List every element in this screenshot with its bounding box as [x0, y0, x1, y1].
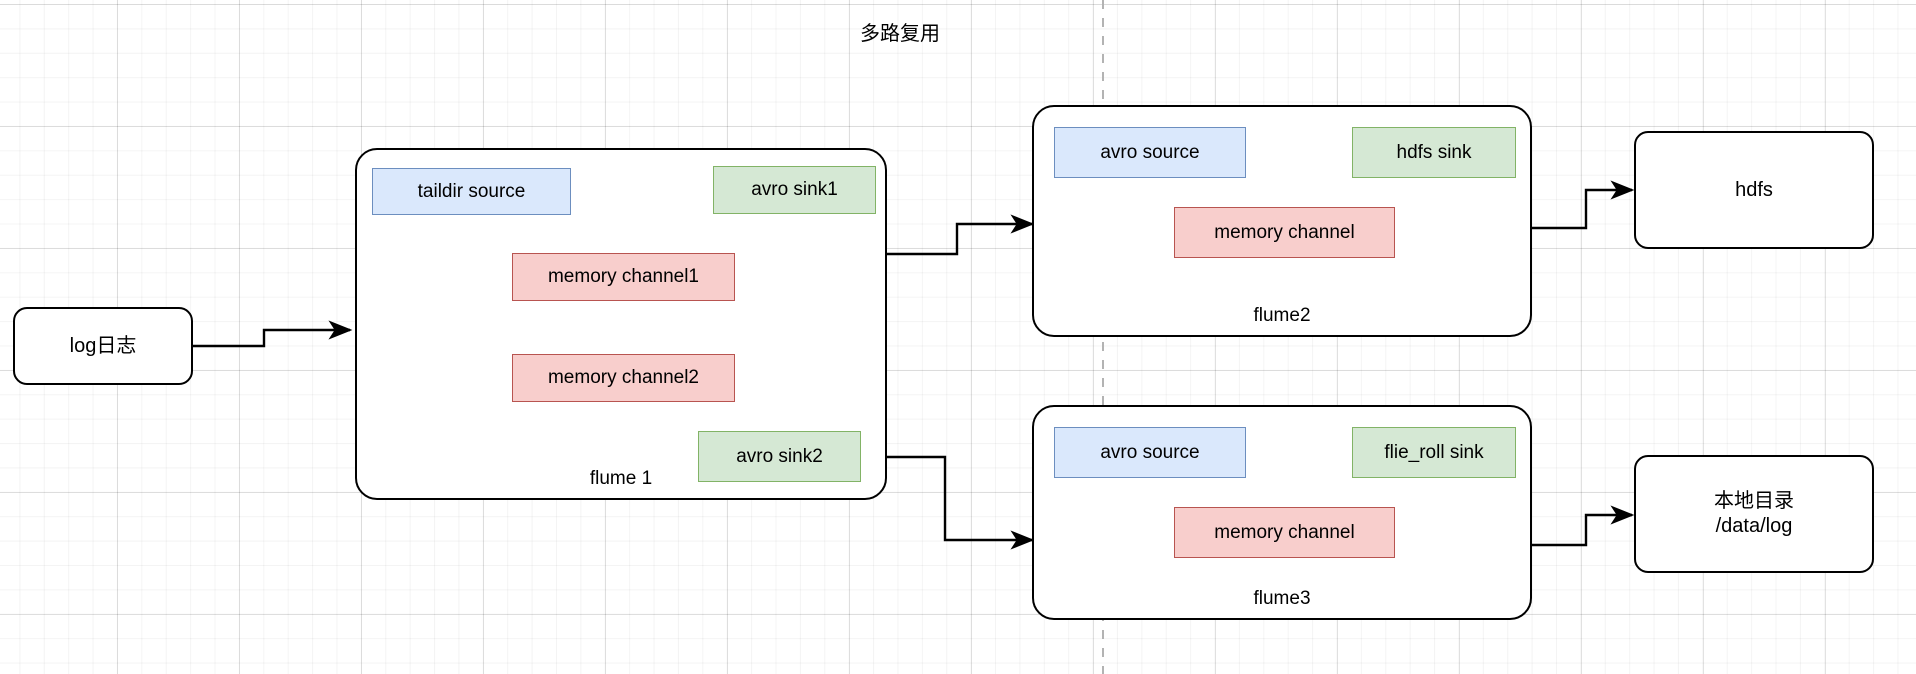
flume2-avro-source: avro source [1054, 127, 1246, 178]
flume3-flie-roll-sink: flie_roll sink [1352, 427, 1516, 478]
agent-flume2-label: flume2 [1253, 304, 1310, 328]
terminal-hdfs-label: hdfs [1735, 178, 1773, 203]
flume1-avro-sink2-label: avro sink2 [736, 445, 823, 469]
flume1-taildir-source: taildir source [372, 168, 571, 215]
flume2-hdfs-sink: hdfs sink [1352, 127, 1516, 178]
edge-flume2-to-hdfs [1531, 190, 1632, 228]
flume3-memory-channel: memory channel [1174, 507, 1395, 558]
flume3-flie-roll-sink-label: flie_roll sink [1384, 441, 1483, 465]
page-title: 多路复用 [860, 17, 940, 46]
terminal-log-source-label: log日志 [70, 334, 137, 359]
agent-flume1-label: flume 1 [590, 467, 652, 491]
flume1-memory-channel1: memory channel1 [512, 253, 735, 301]
agent-flume3-label: flume3 [1253, 587, 1310, 611]
flume3-avro-source: avro source [1054, 427, 1246, 478]
flume1-taildir-source-label: taildir source [418, 180, 526, 204]
flume2-hdfs-sink-label: hdfs sink [1397, 141, 1472, 165]
flume3-memory-channel-label: memory channel [1214, 521, 1354, 545]
terminal-log-source: log日志 [13, 307, 193, 385]
terminal-local-dir-label-line2: /data/log [1716, 514, 1793, 539]
flume1-avro-sink1: avro sink1 [713, 166, 876, 214]
terminal-hdfs: hdfs [1634, 131, 1874, 249]
flume1-memory-channel1-label: memory channel1 [548, 265, 699, 289]
connector-layer [0, 0, 1916, 674]
flume2-avro-source-label: avro source [1100, 141, 1199, 165]
flume1-avro-sink1-label: avro sink1 [751, 178, 838, 202]
flume2-memory-channel: memory channel [1174, 207, 1395, 258]
edge-flume3-to-localdir [1531, 515, 1632, 545]
edge-log-to-flume1 [193, 330, 350, 346]
terminal-local-dir: 本地目录 /data/log [1634, 455, 1874, 573]
flume2-memory-channel-label: memory channel [1214, 221, 1354, 245]
terminal-local-dir-label-line1: 本地目录 [1714, 489, 1794, 514]
flume3-avro-source-label: avro source [1100, 441, 1199, 465]
diagram-canvas: 多路复用 log日志 flume 1 taildir source memory… [0, 0, 1916, 674]
flume1-avro-sink2: avro sink2 [698, 431, 861, 482]
flume1-memory-channel2: memory channel2 [512, 354, 735, 402]
flume1-memory-channel2-label: memory channel2 [548, 366, 699, 390]
